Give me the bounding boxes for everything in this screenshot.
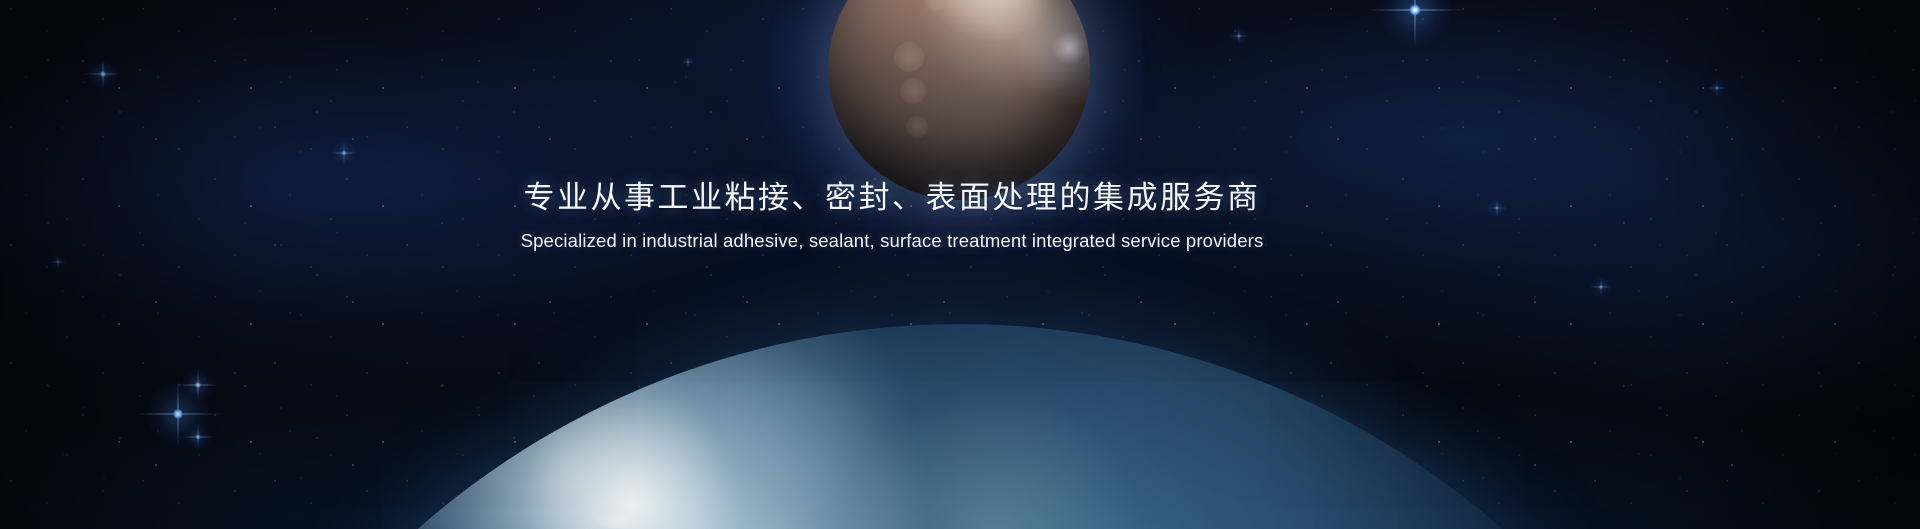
hero-banner: 专业从事工业粘接、密封、表面处理的集成服务商 Specialized in in… — [0, 0, 1920, 529]
star-field-layer-2 — [0, 0, 1920, 529]
banner-headline: 专业从事工业粘接、密封、表面处理的集成服务商 Specialized in in… — [0, 178, 1920, 252]
banner-subtitle-english: Specialized in industrial adhesive, seal… — [0, 230, 1784, 252]
banner-title-chinese: 专业从事工业粘接、密封、表面处理的集成服务商 — [0, 178, 1784, 219]
